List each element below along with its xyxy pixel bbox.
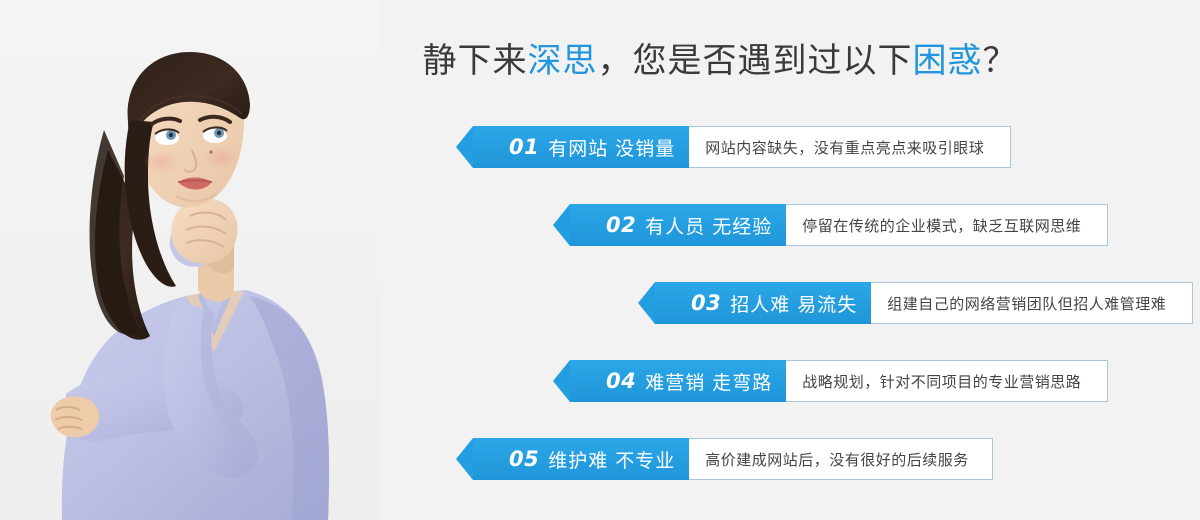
pain-point-tag[interactable]: 03招人难 易流失	[655, 282, 871, 324]
pain-point-list: 01有网站 没销量网站内容缺失，没有重点亮点来吸引眼球02有人员 无经验停留在传…	[0, 120, 1200, 510]
pain-point-number: 05	[509, 447, 539, 471]
pain-point-row[interactable]: 04难营销 走弯路战略规划，针对不同项目的专业营销思路	[570, 360, 1108, 402]
pain-point-number: 02	[606, 213, 636, 237]
pain-point-description: 网站内容缺失，没有重点亮点来吸引眼球	[689, 126, 1011, 168]
pain-point-tag[interactable]: 05维护难 不专业	[473, 438, 689, 480]
pain-point-tag[interactable]: 01有网站 没销量	[473, 126, 689, 168]
promo-banner: 静下来深思，您是否遇到过以下困惑？ 01有网站 没销量网站内容缺失，没有重点亮点…	[0, 0, 1200, 520]
pain-point-title: 有人员 无经验	[645, 212, 772, 239]
pain-point-title: 难营销 走弯路	[645, 368, 772, 395]
pain-point-number: 01	[509, 135, 539, 159]
pain-point-description: 战略规划，针对不同项目的专业营销思路	[786, 360, 1108, 402]
pain-point-tag[interactable]: 04难营销 走弯路	[570, 360, 786, 402]
pain-point-title: 维护难 不专业	[548, 446, 675, 473]
headline-part-1: 静下来	[423, 41, 528, 81]
pain-point-number: 04	[606, 369, 636, 393]
pain-point-title: 有网站 没销量	[548, 134, 675, 161]
pain-point-description: 高价建成网站后，没有很好的后续服务	[689, 438, 993, 480]
pain-point-row[interactable]: 02有人员 无经验停留在传统的企业模式，缺乏互联网思维	[570, 204, 1108, 246]
pain-point-description: 组建自己的网络营销团队但招人难管理难	[871, 282, 1193, 324]
pain-point-row[interactable]: 03招人难 易流失组建自己的网络营销团队但招人难管理难	[655, 282, 1193, 324]
pain-point-tag[interactable]: 02有人员 无经验	[570, 204, 786, 246]
headline-part-2: ，您是否遇到过以下	[598, 41, 913, 81]
pain-point-row[interactable]: 01有网站 没销量网站内容缺失，没有重点亮点来吸引眼球	[473, 126, 1011, 168]
pain-point-title: 招人难 易流失	[730, 290, 857, 317]
pain-point-number: 03	[691, 291, 721, 315]
pain-point-description: 停留在传统的企业模式，缺乏互联网思维	[786, 204, 1108, 246]
headline-part-3: ？	[983, 41, 1018, 81]
pain-point-row[interactable]: 05维护难 不专业高价建成网站后，没有很好的后续服务	[473, 438, 993, 480]
headline-highlight-1: 深思	[528, 41, 598, 81]
headline-highlight-2: 困惑	[913, 41, 983, 81]
page-title: 静下来深思，您是否遇到过以下困惑？	[390, 38, 1050, 84]
